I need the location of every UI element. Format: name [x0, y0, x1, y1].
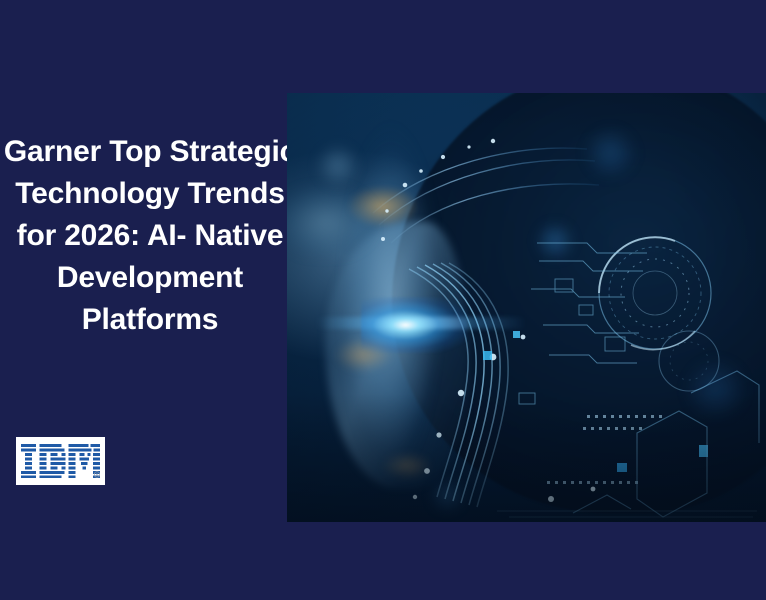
hero-image: [287, 93, 766, 522]
ibm-logo-icon: R: [21, 444, 100, 478]
image-vignette: [287, 93, 766, 522]
slide-canvas: Garner Top Strategic Technology Trends f…: [0, 0, 766, 600]
page-title: Garner Top Strategic Technology Trends f…: [0, 131, 300, 341]
ibm-logo: R: [16, 437, 105, 485]
